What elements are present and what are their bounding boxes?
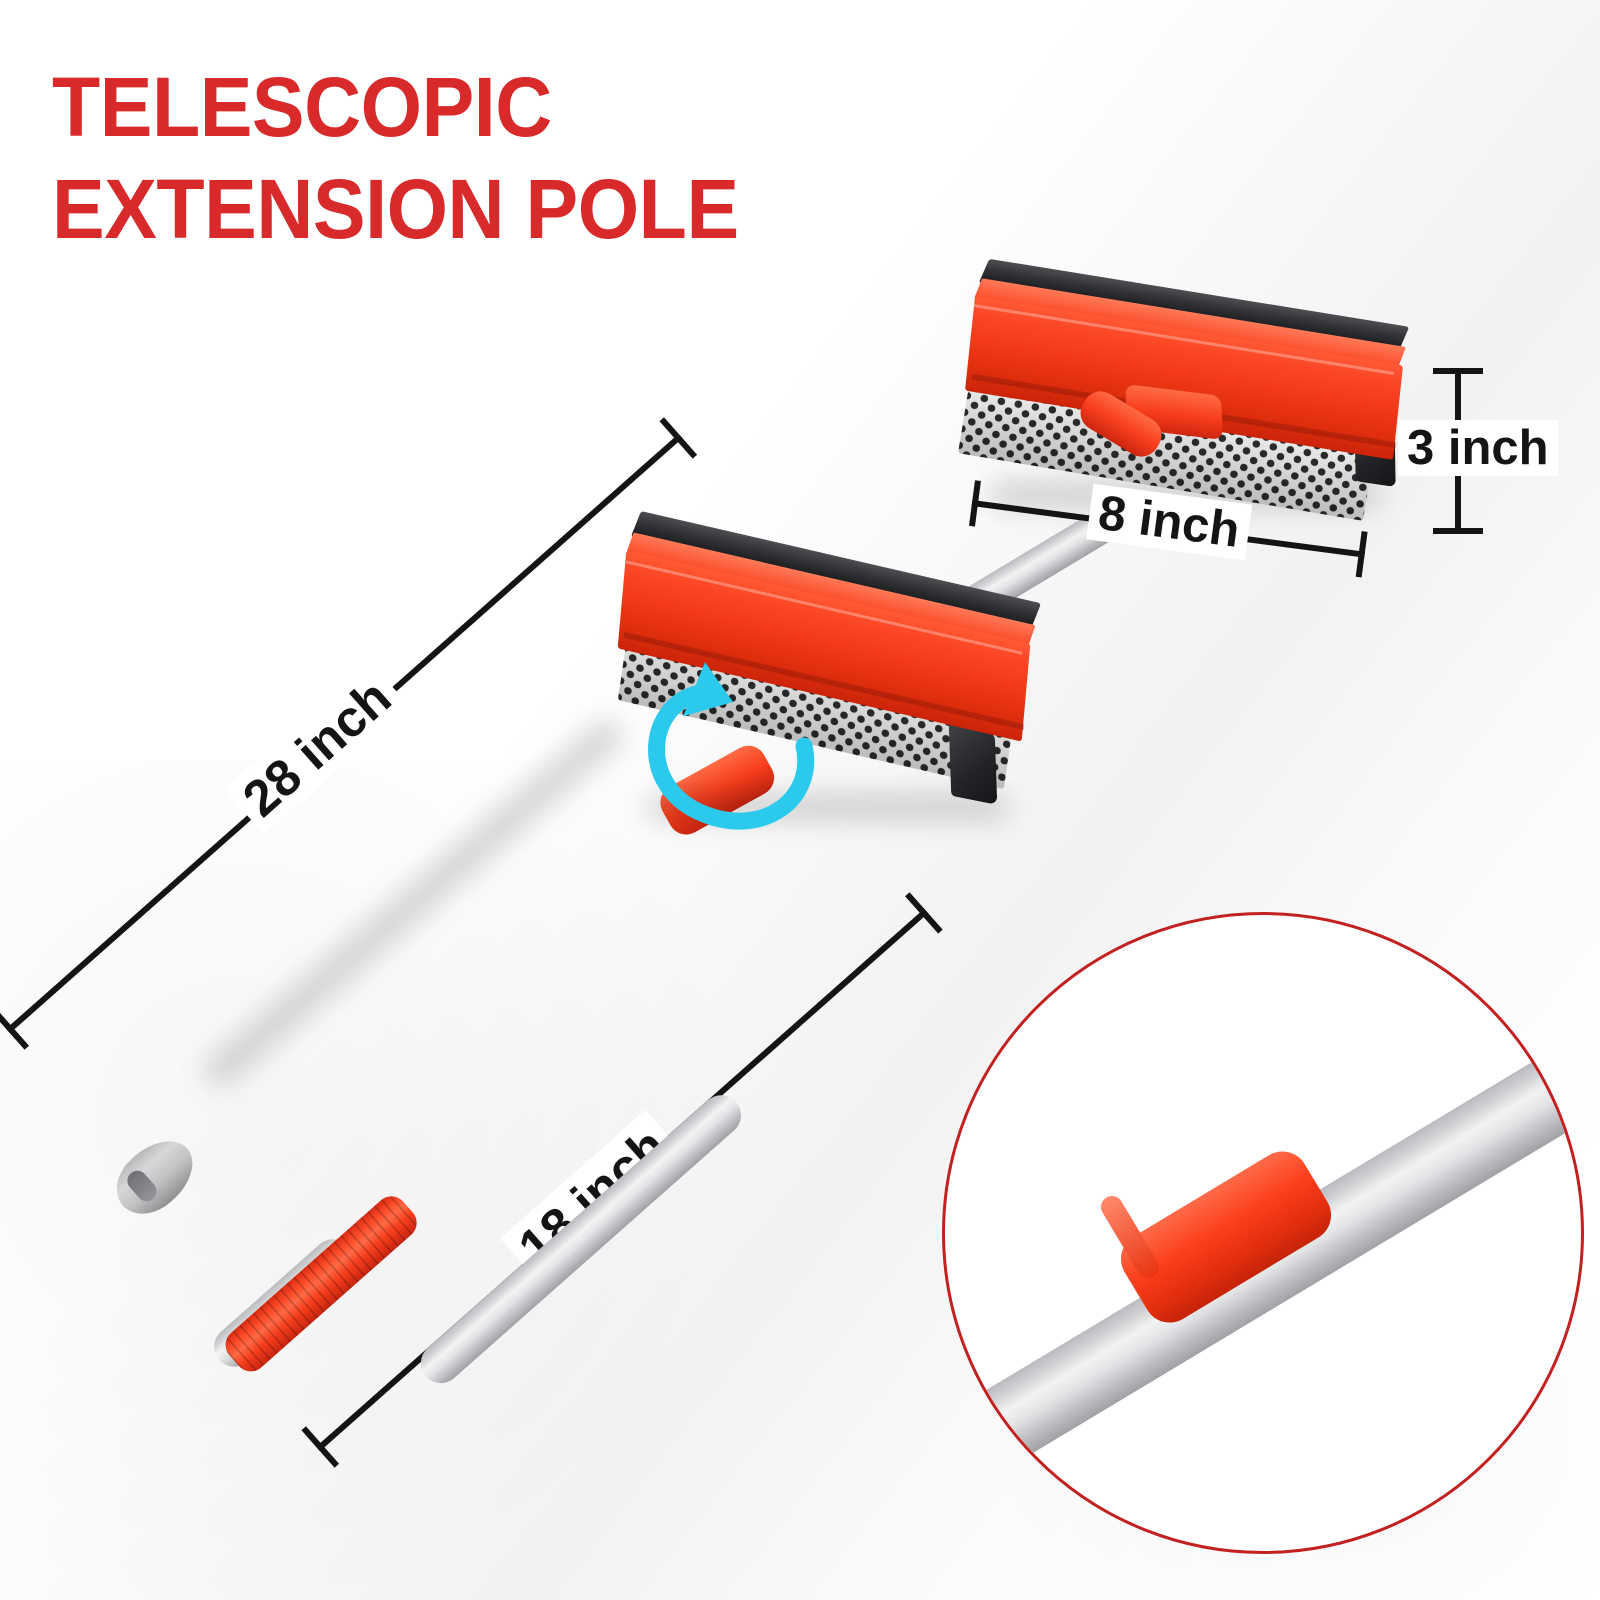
head-end-cap-black (949, 723, 997, 805)
ribbed-rubber-grip (219, 1190, 423, 1378)
pole-shadow (200, 714, 627, 1091)
magnified-detail-circle (942, 912, 1584, 1554)
grey-end-cap (104, 1127, 207, 1227)
product-infographic: TELESCOPIC EXTENSION POLE 3 inch (0, 0, 1600, 1600)
rotation-arrow-icon (624, 648, 854, 878)
extension-pole-upper (413, 1087, 750, 1391)
